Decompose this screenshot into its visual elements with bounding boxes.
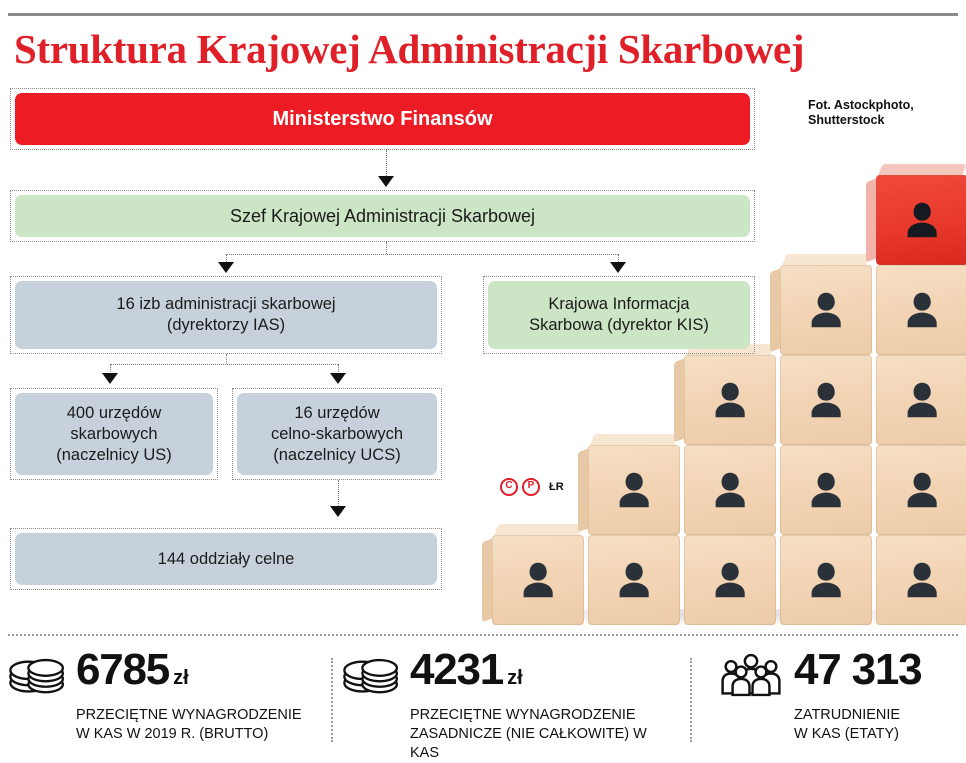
block-face (876, 445, 966, 535)
person-icon (805, 283, 847, 337)
node-label: Ministerstwo Finansów (272, 107, 492, 131)
footer-divider (8, 634, 958, 636)
stat-separator (690, 658, 692, 742)
block-face (780, 355, 872, 445)
photo-credit: Fot. Astockphoto, Shutterstock (808, 98, 958, 128)
stat-base-salary: 4231zł PRZECIĘTNE WYNAGRODZENIE ZASADNIC… (342, 648, 662, 752)
person-icon (901, 283, 943, 337)
block-face (780, 535, 872, 625)
node-krajowa-informacja-skarbowa[interactable]: Krajowa Informacja Skarbowa (dyrektor KI… (483, 276, 755, 354)
arrow-down-icon (610, 262, 626, 273)
node-fill: Ministerstwo Finansów (15, 93, 750, 145)
connector-ucs-oddzialy (338, 480, 339, 508)
person-icon (805, 463, 847, 517)
wood-block (780, 355, 872, 445)
person-icon (901, 373, 943, 427)
block-face (876, 265, 966, 355)
stat-employment: 47 313 ZATRUDNIENIE W KAS (ETATY) (718, 648, 964, 752)
wood-block (876, 535, 966, 625)
stat-body: 4231zł PRZECIĘTNE WYNAGRODZENIE ZASADNIC… (410, 648, 662, 763)
node-oddzialy-celne[interactable]: 144 oddziały celne (10, 528, 442, 590)
block-face (876, 535, 966, 625)
stat-description: ZATRUDNIENIE W KAS (ETATY) (794, 706, 964, 744)
header-divider (8, 13, 958, 16)
person-icon (805, 373, 847, 427)
node-fill: 16 urzędów celno-skarbowych (naczelnicy … (237, 393, 437, 475)
coins-icon (342, 652, 400, 698)
node-label: 16 izb administracji skarbowej (dyrektor… (116, 294, 335, 336)
stat-separator (331, 658, 333, 742)
node-fill: Krajowa Informacja Skarbowa (dyrektor KI… (488, 281, 750, 349)
wood-block (780, 535, 872, 625)
person-icon (901, 463, 943, 517)
person-icon (901, 553, 943, 607)
node-fill: Szef Krajowej Administracji Skarbowej (15, 195, 750, 237)
node-label: 400 urzędów skarbowych (naczelnicy US) (56, 403, 172, 466)
stats-row: 6785zł PRZECIĘTNE WYNAGRODZENIE W KAS W … (0, 648, 966, 758)
block-face (780, 445, 872, 535)
org-structure-chart: Ministerstwo Finansów Szef Krajowej Admi… (0, 88, 790, 628)
node-urzedy-celno-skarbowe[interactable]: 16 urzędów celno-skarbowych (naczelnicy … (232, 388, 442, 480)
page-title: Struktura Krajowej Administracji Skarbow… (14, 24, 944, 74)
stat-description: PRZECIĘTNE WYNAGRODZENIE W KAS W 2019 R.… (76, 706, 328, 744)
connector-izby-bus (110, 364, 338, 365)
connector-mf-szef (386, 150, 387, 178)
wood-block (876, 265, 966, 355)
node-label: 144 oddziały celne (158, 549, 295, 570)
node-fill: 400 urzędów skarbowych (naczelnicy US) (15, 393, 213, 475)
arrow-down-icon (330, 506, 346, 517)
red-leader-block (876, 175, 966, 265)
node-fill: 144 oddziały celne (15, 533, 437, 585)
node-izby-administracji-skarbowej[interactable]: 16 izb administracji skarbowej (dyrektor… (10, 276, 442, 354)
node-szef-kas[interactable]: Szef Krajowej Administracji Skarbowej (10, 190, 755, 242)
node-label: Szef Krajowej Administracji Skarbowej (230, 205, 535, 228)
connector-izby-stem (226, 354, 227, 364)
connector-szef-stem (386, 242, 387, 254)
stat-value: 4231zł (410, 645, 523, 694)
arrow-down-icon (378, 176, 394, 187)
coins-icon (8, 652, 66, 698)
stat-value: 47 313 (794, 645, 925, 694)
stat-unit: zł (173, 667, 189, 689)
block-face (876, 175, 966, 265)
stat-body: 47 313 ZATRUDNIENIE W KAS (ETATY) (794, 648, 964, 744)
stat-value: 6785zł (76, 645, 189, 694)
stat-description: PRZECIĘTNE WYNAGRODZENIE ZASADNICZE (NIE… (410, 706, 662, 763)
node-fill: 16 izb administracji skarbowej (dyrektor… (15, 281, 437, 349)
block-face (876, 355, 966, 445)
wood-block (876, 355, 966, 445)
arrow-down-icon (218, 262, 234, 273)
people-group-icon (718, 652, 784, 698)
stat-body: 6785zł PRZECIĘTNE WYNAGRODZENIE W KAS W … (76, 648, 328, 744)
block-face (780, 265, 872, 355)
node-label: Krajowa Informacja Skarbowa (dyrektor KI… (529, 294, 709, 336)
connector-szef-bus (226, 254, 618, 255)
arrow-down-icon (102, 373, 118, 384)
stat-unit: zł (507, 667, 523, 689)
person-icon (805, 553, 847, 607)
arrow-down-icon (330, 373, 346, 384)
wood-block (876, 445, 966, 535)
node-ministerstwo-finansow[interactable]: Ministerstwo Finansów (10, 88, 755, 150)
stat-average-salary-gross: 6785zł PRZECIĘTNE WYNAGRODZENIE W KAS W … (8, 648, 328, 752)
wood-block (780, 445, 872, 535)
person-icon (901, 193, 943, 247)
node-urzedy-skarbowe[interactable]: 400 urzędów skarbowych (naczelnicy US) (10, 388, 218, 480)
node-label: 16 urzędów celno-skarbowych (naczelnicy … (271, 403, 403, 466)
wood-block (780, 265, 872, 355)
